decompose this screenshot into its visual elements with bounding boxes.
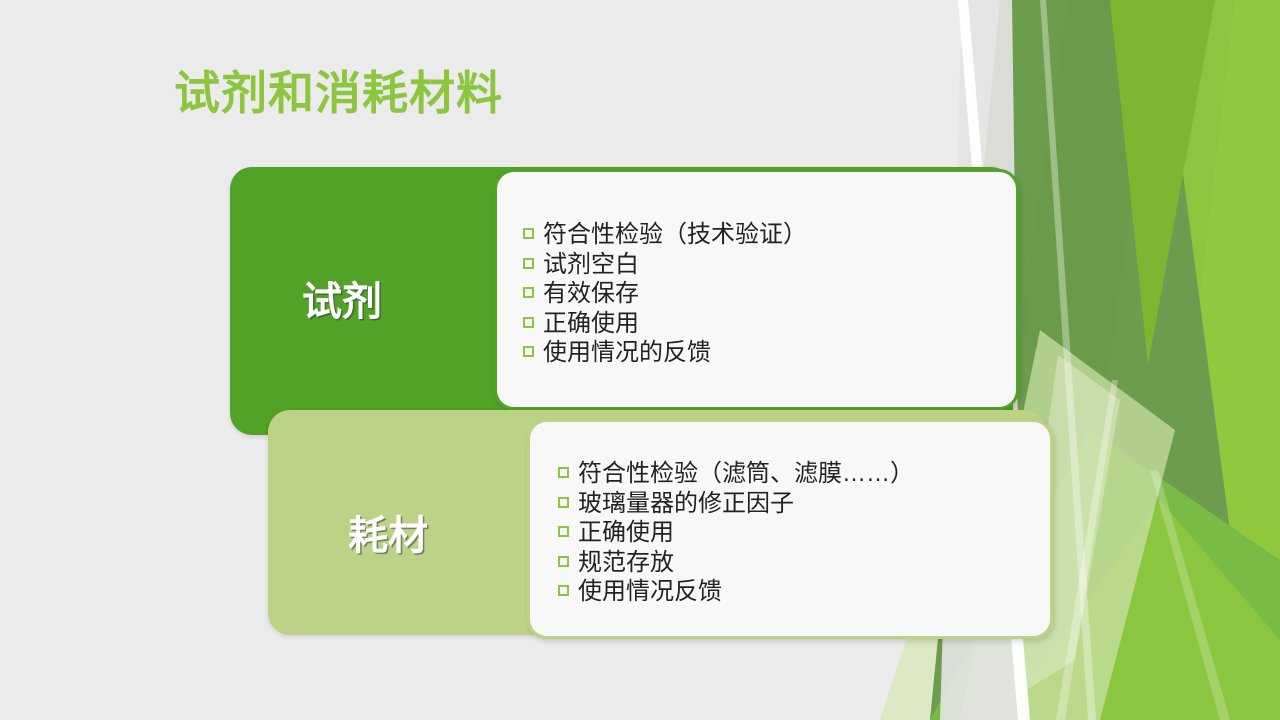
list-item-label: 使用情况反馈 [578, 577, 722, 606]
list-item: 使用情况反馈 [558, 577, 914, 606]
list-item-label: 符合性检验（技术验证） [543, 220, 807, 249]
list-item: 符合性检验（技术验证） [523, 220, 807, 249]
list-item-label: 使用情况的反馈 [543, 338, 711, 367]
square-bullet-icon [523, 228, 534, 239]
square-bullet-icon [523, 287, 534, 298]
list-item: 规范存放 [558, 548, 914, 577]
list-item-label: 玻璃量器的修正因子 [578, 489, 794, 518]
bullet-list-reagent: 符合性检验（技术验证） 试剂空白 有效保存 正确使用 使用情况的反馈 [523, 220, 807, 368]
square-bullet-icon [523, 258, 534, 269]
list-item: 符合性检验（滤筒、滤膜……） [558, 459, 914, 488]
content-card-consumable: 符合性检验（滤筒、滤膜……） 玻璃量器的修正因子 正确使用 规范存放 使用情况反… [527, 419, 1053, 639]
list-item: 玻璃量器的修正因子 [558, 489, 914, 518]
section-label-reagent: 试剂 [302, 269, 382, 327]
square-bullet-icon [558, 585, 569, 596]
list-item: 正确使用 [558, 518, 914, 547]
square-bullet-icon [558, 467, 569, 478]
square-bullet-icon [558, 556, 569, 567]
list-item: 有效保存 [523, 279, 807, 308]
bullet-list-consumable: 符合性检验（滤筒、滤膜……） 玻璃量器的修正因子 正确使用 规范存放 使用情况反… [558, 459, 914, 607]
list-item-label: 符合性检验（滤筒、滤膜……） [578, 459, 914, 488]
slide-canvas: 试剂和消耗材料 试剂 符合性检验（技术验证） 试剂空白 有效保存 正确使用 [0, 0, 1280, 720]
square-bullet-icon [523, 317, 534, 328]
list-item-label: 正确使用 [543, 309, 639, 338]
list-item-label: 规范存放 [578, 548, 674, 577]
section-label-consumable: 耗材 [348, 503, 428, 561]
list-item-label: 试剂空白 [543, 250, 639, 279]
square-bullet-icon [523, 346, 534, 357]
content-card-reagent: 符合性检验（技术验证） 试剂空白 有效保存 正确使用 使用情况的反馈 [494, 169, 1019, 410]
list-item-label: 有效保存 [543, 279, 639, 308]
square-bullet-icon [558, 526, 569, 537]
page-title: 试剂和消耗材料 [174, 68, 503, 119]
square-bullet-icon [558, 497, 569, 508]
list-item: 试剂空白 [523, 250, 807, 279]
list-item: 使用情况的反馈 [523, 338, 807, 367]
list-item-label: 正确使用 [578, 518, 674, 547]
list-item: 正确使用 [523, 309, 807, 338]
